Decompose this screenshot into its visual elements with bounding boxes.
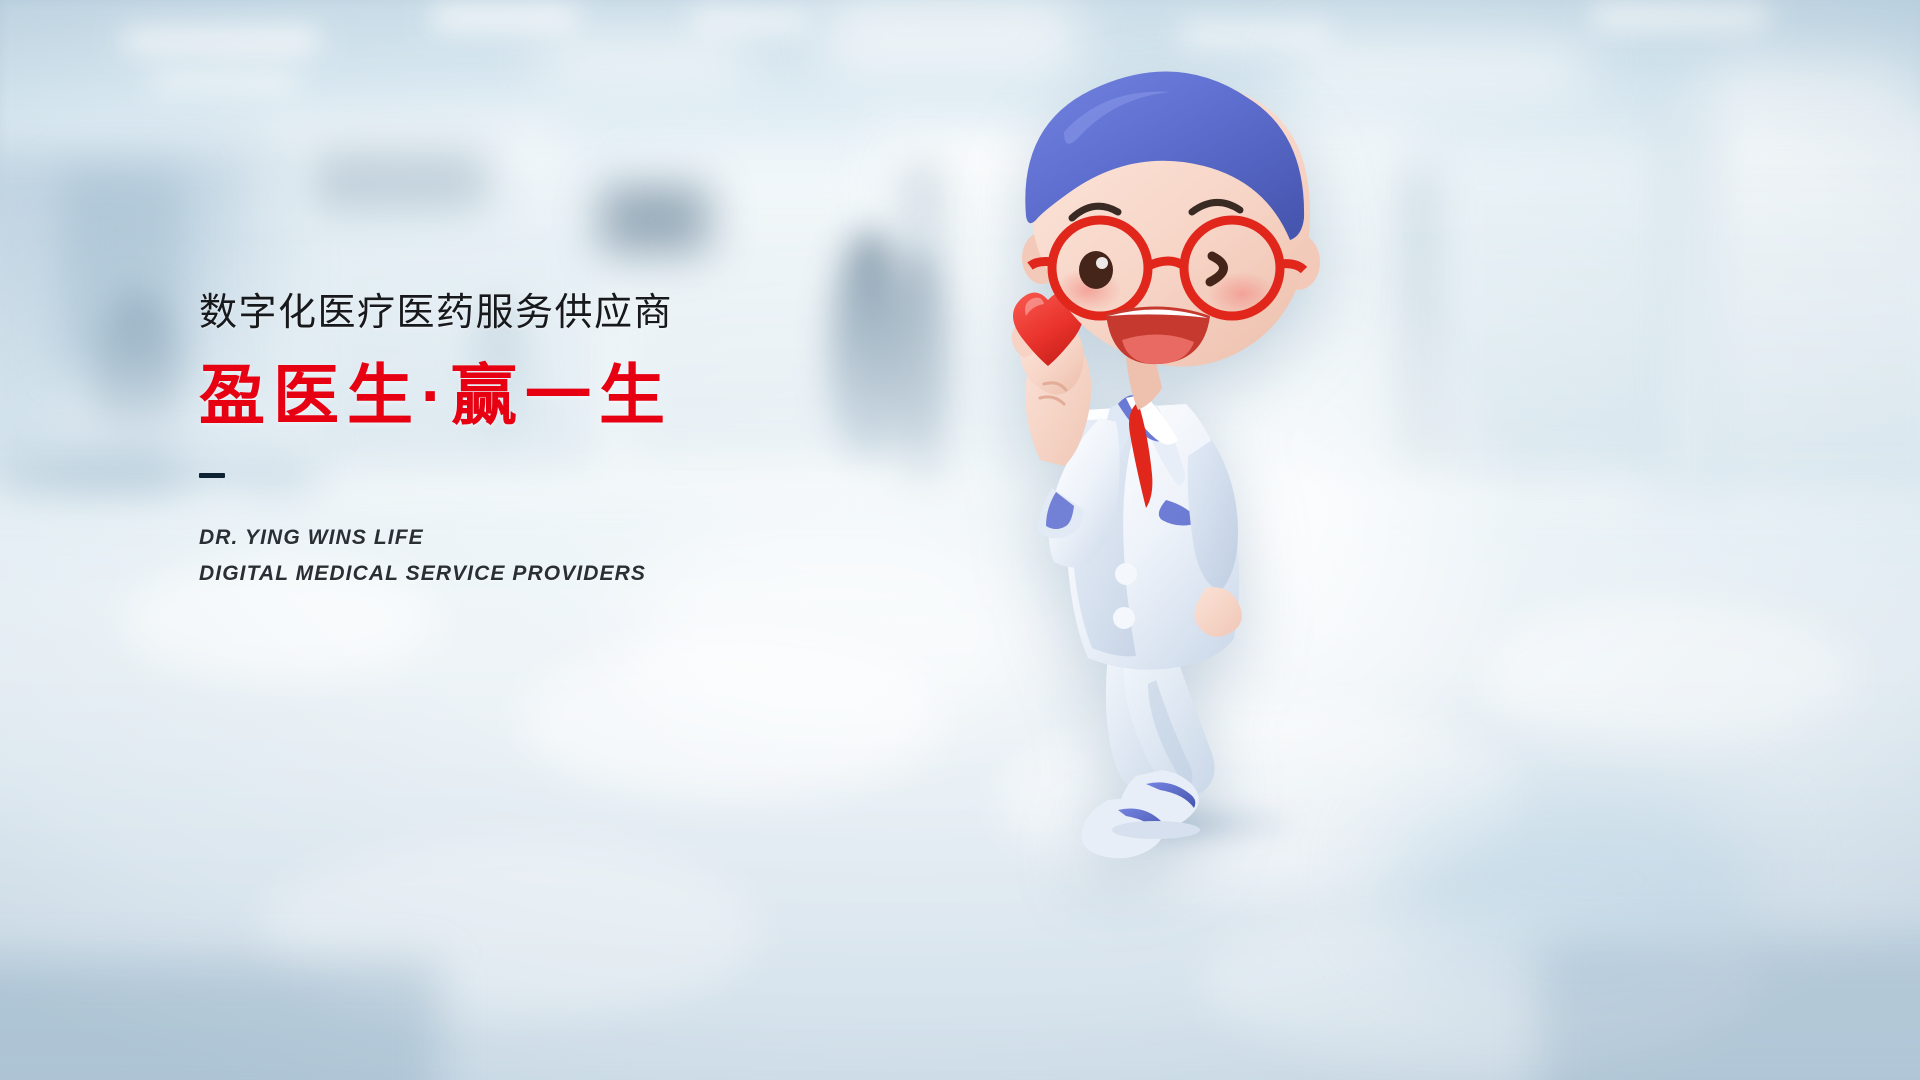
glasses-left-temple bbox=[1030, 262, 1052, 267]
coat-button bbox=[1113, 607, 1135, 629]
divider-dash bbox=[199, 473, 225, 478]
right-arm-group bbox=[1188, 440, 1242, 637]
doctor-mascot-illustration bbox=[960, 40, 1380, 860]
banner-copy: 数字化医疗医药服务供应商 盈医生·赢一生 DR. YING WINS LIFE … bbox=[199, 292, 959, 592]
glasses-bridge bbox=[1148, 261, 1184, 266]
banner-headline: 盈医生·赢一生 bbox=[199, 360, 959, 431]
banner-kicker: 数字化医疗医药服务供应商 bbox=[199, 292, 959, 336]
coat-button bbox=[1115, 563, 1137, 585]
english-line-1: DR. YING WINS LIFE bbox=[199, 520, 959, 556]
left-eye-highlight bbox=[1096, 257, 1108, 269]
left-eye bbox=[1079, 251, 1113, 289]
shoes-group bbox=[1081, 770, 1200, 858]
banner-english-block: DR. YING WINS LIFE DIGITAL MEDICAL SERVI… bbox=[199, 520, 959, 592]
banner-root: 数字化医疗医药服务供应商 盈医生·赢一生 DR. YING WINS LIFE … bbox=[0, 0, 1920, 1080]
english-line-2: DIGITAL MEDICAL SERVICE PROVIDERS bbox=[199, 556, 959, 592]
shoe-sole bbox=[1112, 821, 1200, 839]
